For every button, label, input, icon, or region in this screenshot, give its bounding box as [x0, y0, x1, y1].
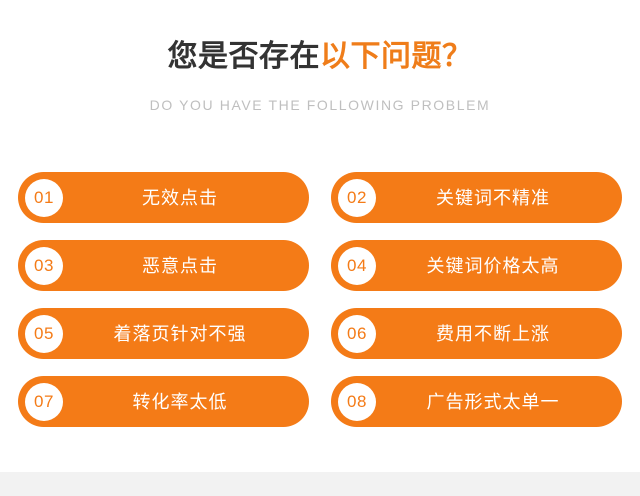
- page-header: 您是否存在以下问题？ DO YOU HAVE THE FOLLOWING PRO…: [0, 0, 640, 114]
- problem-number-badge: 03: [25, 247, 63, 285]
- promo-page: 您是否存在以下问题？ DO YOU HAVE THE FOLLOWING PRO…: [0, 0, 640, 496]
- page-title-accent: 以下问题？: [320, 40, 473, 73]
- page-subtitle: DO YOU HAVE THE FOLLOWING PROBLEM: [0, 76, 640, 114]
- problem-item-05[interactable]: 05 着落页针对不强: [18, 308, 309, 359]
- problem-list: 01 无效点击 02 关键词不精准 03 恶意点击 04 关键词价格太高 05 …: [18, 172, 622, 427]
- problem-number-badge: 07: [25, 383, 63, 421]
- problem-label: 无效点击: [63, 186, 309, 210]
- problem-number-badge: 01: [25, 179, 63, 217]
- problem-item-04[interactable]: 04 关键词价格太高: [331, 240, 622, 291]
- problem-item-06[interactable]: 06 费用不断上涨: [331, 308, 622, 359]
- problem-number-badge: 06: [338, 315, 376, 353]
- problem-number-badge: 04: [338, 247, 376, 285]
- problem-number-badge: 05: [25, 315, 63, 353]
- problem-item-07[interactable]: 07 转化率太低: [18, 376, 309, 427]
- problem-number-badge: 08: [338, 383, 376, 421]
- problem-item-08[interactable]: 08 广告形式太单一: [331, 376, 622, 427]
- bottom-divider-band: [0, 472, 640, 496]
- problem-label: 关键词不精准: [376, 186, 622, 210]
- problem-label: 恶意点击: [63, 254, 309, 278]
- problem-item-02[interactable]: 02 关键词不精准: [331, 172, 622, 223]
- problem-label: 着落页针对不强: [63, 322, 309, 346]
- problem-label: 广告形式太单一: [376, 390, 622, 414]
- problem-item-03[interactable]: 03 恶意点击: [18, 240, 309, 291]
- problem-label: 费用不断上涨: [376, 322, 622, 346]
- page-title-primary: 您是否存在: [168, 40, 321, 73]
- problem-item-01[interactable]: 01 无效点击: [18, 172, 309, 223]
- page-title: 您是否存在以下问题？: [0, 0, 640, 76]
- problem-number-badge: 02: [338, 179, 376, 217]
- problem-label: 转化率太低: [63, 390, 309, 414]
- problem-label: 关键词价格太高: [376, 254, 622, 278]
